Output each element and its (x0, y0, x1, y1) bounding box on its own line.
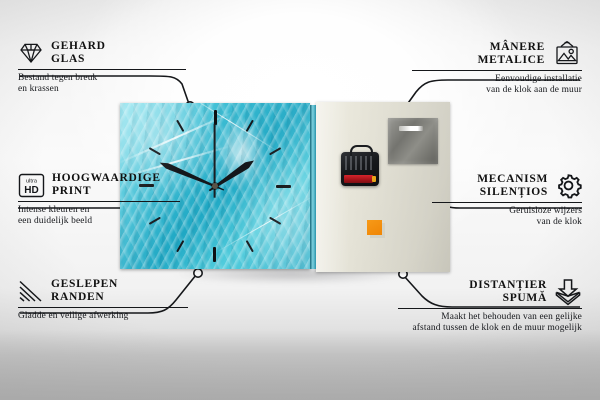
callout-rule (398, 308, 582, 309)
foam-spacer (367, 220, 382, 235)
callout-rule (18, 201, 180, 202)
callout-title: MECANISM SILENȚIOS (477, 173, 548, 199)
callout-rule (18, 307, 188, 308)
hanger-loop (350, 145, 373, 156)
framed-picture-hanging-icon (552, 40, 582, 67)
callout-title-row: MECANISM SILENȚIOS (432, 172, 582, 199)
callout-manere-metalice: MÂNERE METALICE Eenvoudige installatie (412, 40, 582, 97)
callout-description: Maakt het behouden van een gelijke afsta… (398, 312, 582, 335)
callout-title: DISTANȚIER SPUMĂ (469, 279, 547, 305)
callout-title-row: MÂNERE METALICE (412, 40, 582, 67)
callout-mecanism-silentios: MECANISM SILENȚIOS Geruisloze wijzers va… (432, 172, 582, 229)
callout-title: HOOGWAARDIGE PRINT (52, 172, 161, 198)
callout-description: Intense kleuren en een duidelijk beeld (18, 205, 180, 228)
callout-rule (18, 69, 186, 70)
callout-distantier-spuma: DISTANȚIER SPUMĂ Maakt het behouden van … (398, 278, 582, 335)
callout-rule (432, 202, 582, 203)
callout-geslepen-randen: GESLEPEN RANDEN Gladde en veilige afwerk… (18, 278, 188, 322)
metal-hanger-plate (388, 118, 438, 164)
clock-back-panel (316, 102, 450, 272)
callout-title: MÂNERE METALICE (478, 41, 545, 67)
ultra-hd-icon: ultra HD (18, 173, 45, 198)
callout-title-row: GEHARD GLAS (18, 40, 186, 66)
aa-battery (344, 175, 373, 183)
svg-text:HD: HD (24, 185, 38, 196)
callout-description: Eenvoudige installatie van de klok aan d… (412, 74, 582, 97)
diamond-icon (18, 42, 44, 64)
quartz-mechanism-box (341, 152, 379, 186)
callout-title: GESLEPEN RANDEN (51, 278, 118, 304)
callout-title-row: ultra HD HOOGWAARDIGE PRINT (18, 172, 180, 198)
infographic-canvas: GEHARD GLAS Bestand tegen breuk en krass… (0, 0, 600, 400)
arrow-down-onto-pad-icon (554, 278, 582, 305)
callout-gehard-glas: GEHARD GLAS Bestand tegen breuk en krass… (18, 40, 186, 96)
callout-description: Bestand tegen breuk en krassen (18, 73, 186, 96)
callout-rule (412, 70, 582, 71)
callout-description: Geruisloze wijzers van de klok (432, 206, 582, 229)
gear-icon (555, 172, 582, 199)
beveled-edge-icon (18, 280, 44, 303)
glass-panel-edge (310, 105, 316, 269)
callout-title: GEHARD GLAS (51, 40, 106, 66)
callout-hoogwaardige-print: ultra HD HOOGWAARDIGE PRINT Intense kleu… (18, 172, 180, 228)
svg-text:ultra: ultra (26, 178, 38, 184)
callout-description: Gladde en veilige afwerking (18, 311, 188, 322)
callout-title-row: GESLEPEN RANDEN (18, 278, 188, 304)
callout-title-row: DISTANȚIER SPUMĂ (398, 278, 582, 305)
mechanism-label (345, 156, 375, 170)
